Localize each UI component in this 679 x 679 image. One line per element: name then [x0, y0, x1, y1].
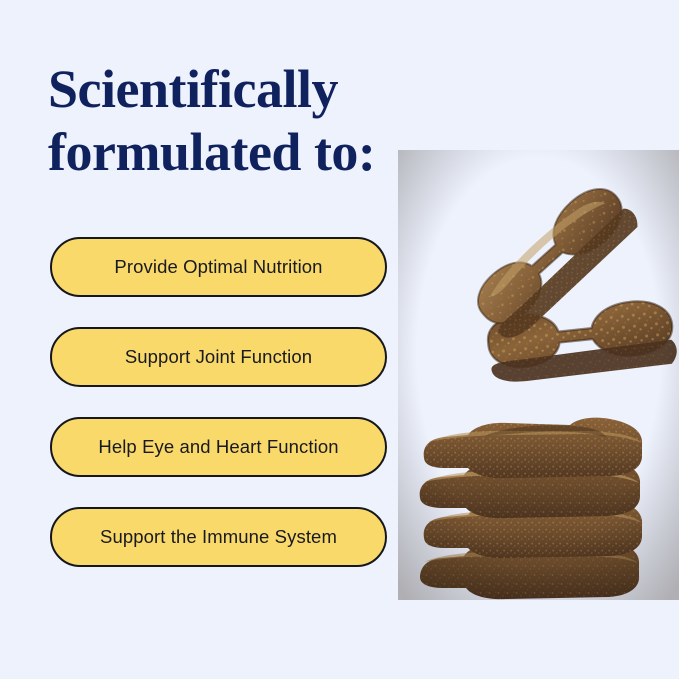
benefit-list: Provide Optimal Nutrition Support Joint …	[50, 237, 387, 567]
dog-bone-treat-stack-icon	[398, 150, 679, 600]
benefit-label: Support Joint Function	[125, 346, 312, 368]
benefit-pill-help-eye-and-heart-function: Help Eye and Heart Function	[50, 417, 387, 477]
benefit-pill-support-joint-function: Support Joint Function	[50, 327, 387, 387]
product-image-treat-stack	[398, 150, 679, 600]
product-benefits-graphic: Scientifically formulated to: Provide Op…	[0, 0, 679, 679]
benefit-label: Support the Immune System	[100, 526, 337, 548]
headline-line-1: Scientifically	[48, 58, 468, 121]
benefit-label: Provide Optimal Nutrition	[114, 256, 322, 278]
benefit-pill-support-the-immune-system: Support the Immune System	[50, 507, 387, 567]
benefit-label: Help Eye and Heart Function	[98, 436, 338, 458]
benefit-pill-provide-optimal-nutrition: Provide Optimal Nutrition	[50, 237, 387, 297]
